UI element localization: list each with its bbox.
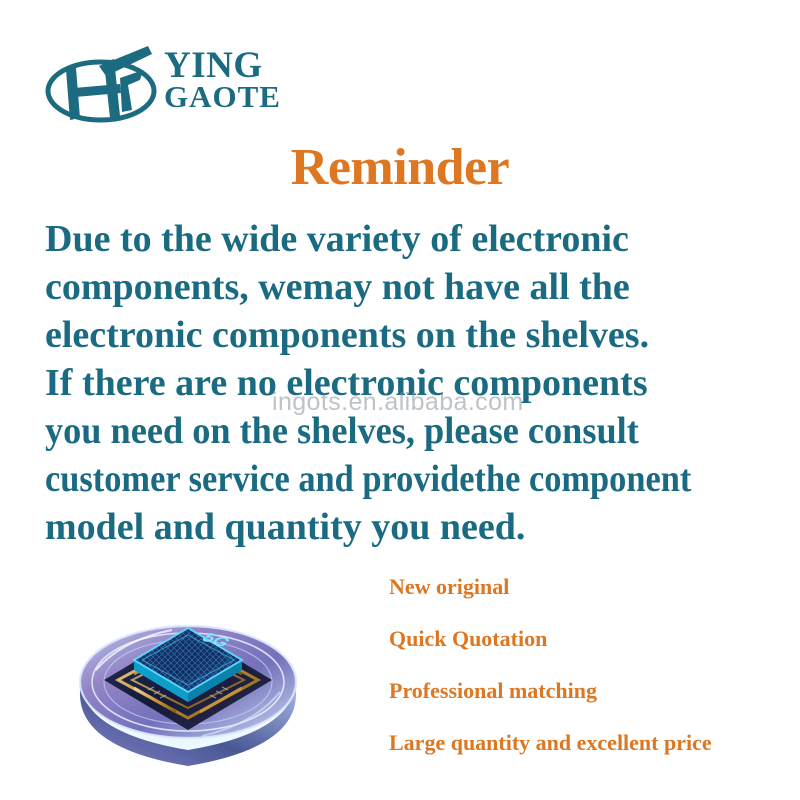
logo-wordmark: YING GAOTE	[164, 49, 281, 112]
chip-illustration: 5G	[72, 582, 304, 774]
feature-item: Quick Quotation	[389, 628, 794, 650]
company-logo: YING GAOTE	[44, 44, 344, 130]
body-line-6: customer service and providethe componen…	[45, 455, 706, 503]
body-line-5: you need on the shelves, please consult	[45, 407, 742, 455]
body-line-7: model and quantity you need.	[45, 503, 775, 551]
reminder-body-text: Due to the wide variety of electronic co…	[45, 215, 775, 551]
body-line-2: components, wemay not have all the	[45, 263, 775, 311]
body-line-4: If there are no electronic components	[45, 359, 775, 407]
feature-item: New original	[389, 576, 794, 598]
hg-monogram-icon	[44, 44, 162, 128]
reminder-banner: YING GAOTE Reminder Due to the wide vari…	[0, 0, 800, 800]
body-line-3: electronic components on the shelves.	[45, 311, 775, 359]
body-line-1: Due to the wide variety of electronic	[45, 215, 775, 263]
feature-item: Large quantity and excellent price	[389, 732, 794, 754]
page-title: Reminder	[0, 142, 800, 194]
feature-item: Professional matching	[389, 680, 794, 702]
logo-text-gaote: GAOTE	[164, 83, 281, 112]
feature-list: New original Quick Quotation Professiona…	[389, 576, 794, 754]
logo-text-ying: YING	[164, 49, 281, 83]
